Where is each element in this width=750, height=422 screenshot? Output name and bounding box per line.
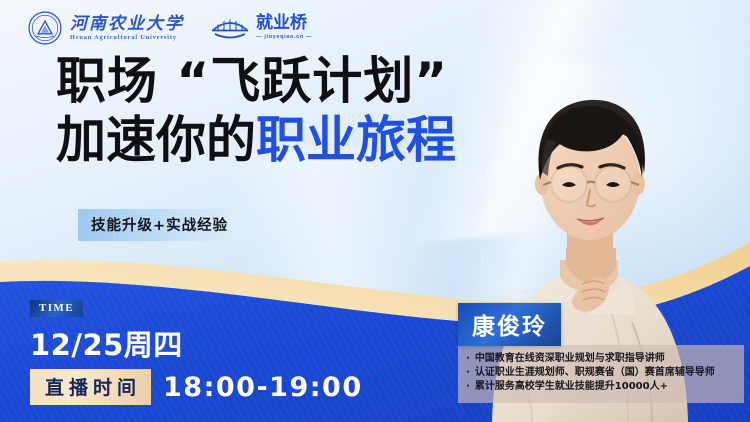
time-tag-badge: TIME	[30, 300, 83, 317]
bullet-marker: ·	[466, 380, 470, 394]
headline-line-2-black: 加速你的	[56, 111, 256, 169]
credential-text: 累计服务高校学生就业技能提升10000人+	[475, 380, 734, 394]
credential-text: 中国教育在线资深职业规划与求职指导讲师	[475, 352, 734, 366]
university-logo: 河南农业大学 Henan Agricultural University	[28, 11, 184, 45]
speaker-block: 康俊玲 · 中国教育在线资深职业规划与求职指导讲师 · 认证职业生涯规划师、职规…	[458, 303, 744, 403]
bullet-marker: ·	[466, 352, 470, 366]
webinar-poster: 河南农业大学 Henan Agricultural University 就业桥…	[0, 0, 750, 422]
speaker-name: 康俊玲	[458, 303, 561, 346]
credential-item: · 累计服务高校学生就业技能提升10000人+	[466, 380, 734, 394]
credential-text: 认证职业生涯规划师、职规赛省（国）赛首席辅导导师	[475, 366, 734, 380]
university-name-cn: 河南农业大学	[70, 15, 184, 32]
live-time-label: 直播时间	[30, 369, 151, 405]
live-time-range: 18:00-19:00	[163, 372, 363, 403]
logo-bar: 河南农业大学 Henan Agricultural University 就业桥…	[28, 11, 312, 45]
credential-item: · 中国教育在线资深职业规划与求职指导讲师	[466, 352, 734, 366]
schedule-block: TIME 12/25周四 直播时间 18:00-19:00	[30, 298, 363, 405]
speaker-credentials-panel: · 中国教育在线资深职业规划与求职指导讲师 · 认证职业生涯规划师、职规赛省（国…	[458, 345, 744, 403]
schedule-time-row: 直播时间 18:00-19:00	[30, 369, 363, 405]
university-seal-icon	[28, 11, 62, 45]
headline-line-2-blue: 职业旅程	[256, 111, 456, 169]
university-name-en: Henan Agricultural University	[70, 35, 184, 41]
partner-name-cn: 就业桥	[256, 15, 312, 32]
credential-item: · 认证职业生涯规划师、职规赛省（国）赛首席辅导导师	[466, 366, 734, 380]
bullet-marker: ·	[466, 366, 470, 380]
headline-line-1: 职场 “飞跃计划”	[56, 56, 456, 107]
schedule-date: 12/25周四	[30, 322, 363, 364]
partner-name-en: — jiuyeqiao.cn —	[256, 35, 312, 41]
headline-block: 职场 “飞跃计划” 加速你的职业旅程	[56, 56, 456, 166]
bridge-icon	[210, 15, 250, 41]
headline-line-2: 加速你的职业旅程	[56, 115, 456, 166]
partner-logo: 就业桥 — jiuyeqiao.cn —	[210, 15, 312, 41]
skill-badge: 技能升级+实战经验	[78, 209, 241, 241]
